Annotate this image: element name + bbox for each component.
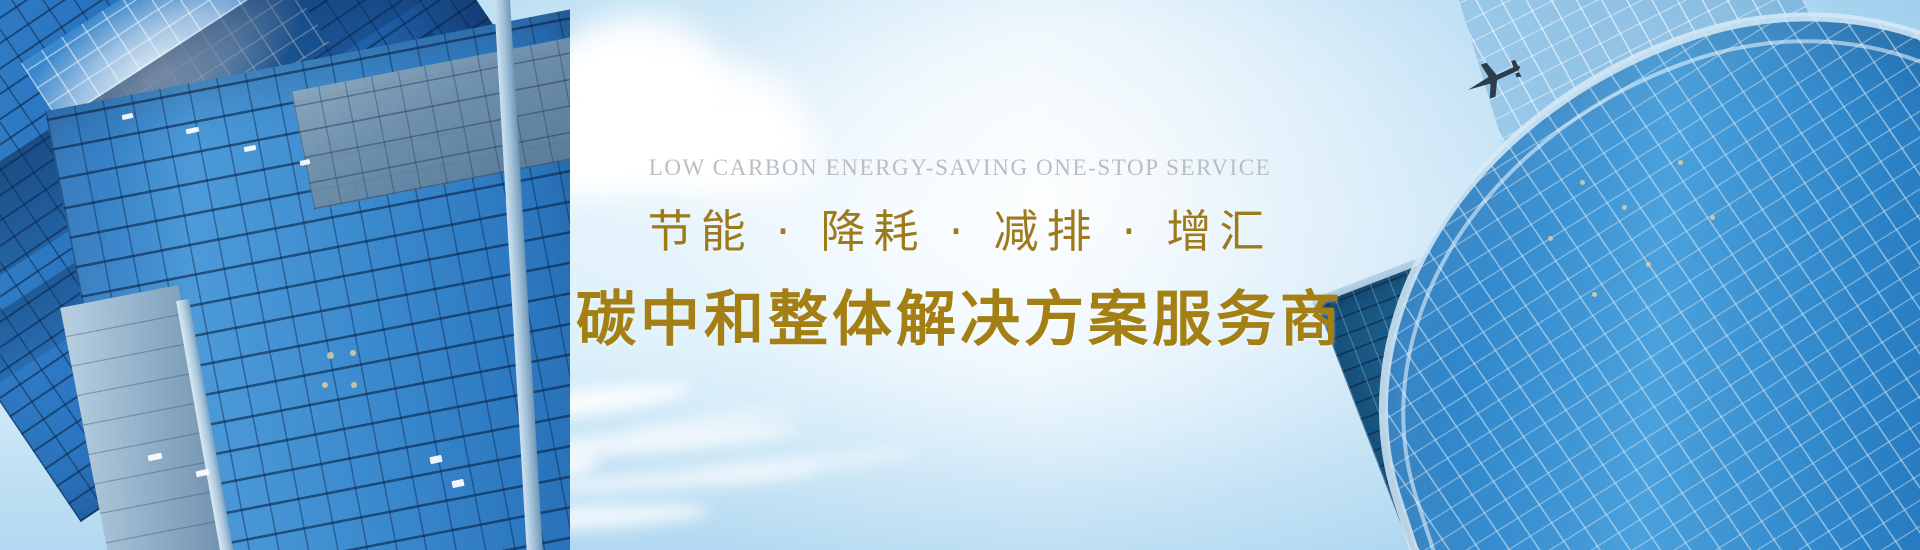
window-light bbox=[1548, 236, 1553, 241]
window-light bbox=[322, 382, 328, 388]
airplane-icon bbox=[1460, 55, 1530, 103]
window-light bbox=[351, 382, 357, 388]
hero-banner: LOW CARBON ENERGY-SAVING ONE-STOP SERVIC… bbox=[0, 0, 1920, 550]
window-light bbox=[327, 352, 334, 359]
window-light bbox=[1646, 262, 1651, 267]
window-light bbox=[1678, 160, 1683, 165]
window-light bbox=[1710, 215, 1715, 220]
right-skyscraper bbox=[1280, 0, 1920, 550]
window-light bbox=[1580, 180, 1585, 185]
cloud-puff bbox=[700, 140, 820, 200]
window-light bbox=[350, 350, 356, 356]
window-light bbox=[1622, 205, 1627, 210]
window-light bbox=[1592, 292, 1597, 297]
left-skyscrapers bbox=[0, 0, 570, 550]
